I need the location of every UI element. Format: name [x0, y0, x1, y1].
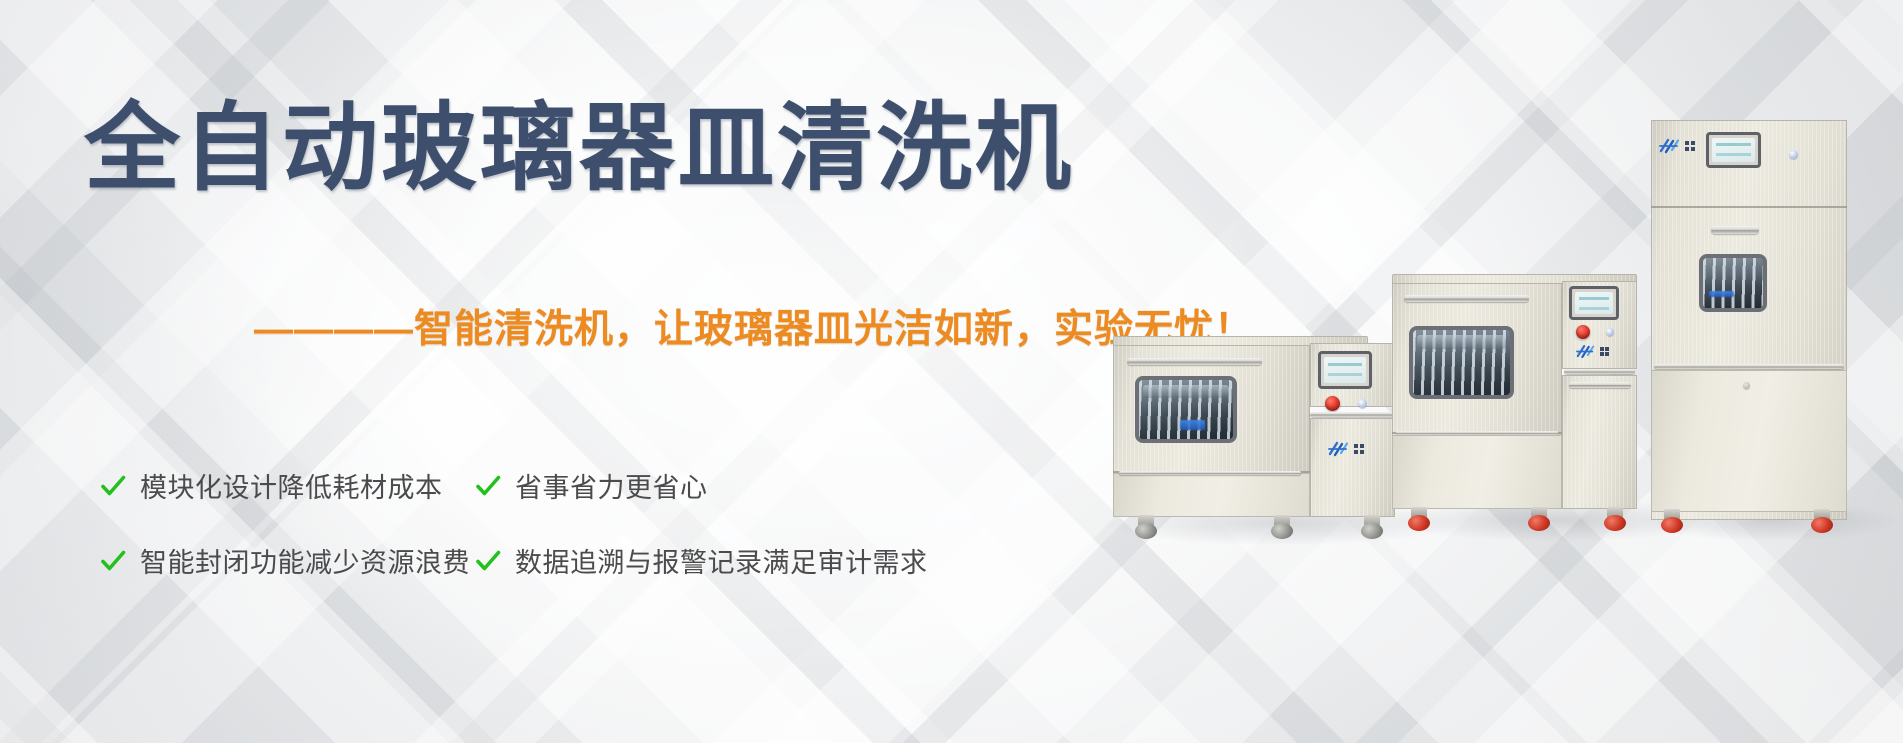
touchscreen-panel[interactable]	[1569, 286, 1619, 320]
chamber-viewing-window	[1409, 326, 1514, 399]
control-column-lower	[1562, 375, 1637, 509]
brand-square-grid-icon	[1600, 347, 1609, 356]
lower-door-handle[interactable]	[1654, 364, 1844, 369]
lower-service-panel[interactable]	[1651, 370, 1847, 512]
brand-logo-icon	[1328, 441, 1364, 457]
caster-wheel-icon	[1661, 509, 1683, 533]
product-image-tall-cabinet-glassware-washer	[1651, 120, 1881, 520]
product-hero-banner: 全自动玻璃器皿清洗机 ————智能清洗机，让玻璃器皿光洁如新，实验无忧！ 模块化…	[0, 0, 1903, 743]
caster-wheel-icon	[1408, 507, 1430, 531]
caster-wheel-icon	[1811, 509, 1833, 533]
upper-rack	[1417, 335, 1506, 349]
glassware-load	[1703, 258, 1763, 308]
blue-rack-accent	[1709, 291, 1734, 297]
brand-square-grid-icon	[1685, 141, 1695, 151]
product-image-freestanding-glassware-washer	[1392, 272, 1692, 522]
caster-wheel-icon	[1135, 515, 1157, 539]
blue-rack-accent	[1180, 420, 1204, 429]
chamber-door-handle[interactable]	[1404, 295, 1529, 302]
control-column-trim	[1310, 412, 1395, 417]
lcd-display	[1575, 292, 1613, 314]
chamber-door-handle[interactable]	[1711, 226, 1759, 234]
emergency-stop-icon[interactable]	[1325, 396, 1340, 411]
control-column-trim	[1564, 369, 1635, 374]
chamber-door-handle[interactable]	[1127, 358, 1262, 365]
lower-service-panel[interactable]	[1113, 473, 1310, 517]
lower-panel-handle[interactable]	[1119, 471, 1301, 475]
brand-h-glyph	[1576, 344, 1596, 359]
door-lock-icon[interactable]	[1743, 382, 1750, 389]
touchscreen-panel[interactable]	[1706, 132, 1761, 168]
caster-wheel-icon	[1528, 507, 1550, 531]
lcd-display	[1712, 138, 1755, 162]
brand-logo-icon	[1576, 344, 1609, 359]
caster-wheel-icon	[1361, 515, 1383, 539]
product-image-group	[0, 0, 1903, 743]
chamber-viewing-window	[1699, 254, 1767, 312]
lcd-display	[1324, 357, 1366, 383]
brand-h-glyph	[1659, 138, 1681, 154]
panel-seam	[1651, 206, 1847, 208]
power-indicator-icon	[1789, 150, 1798, 159]
upper-rack	[1143, 385, 1230, 398]
brand-h-glyph	[1328, 441, 1350, 457]
touchscreen-panel[interactable]	[1318, 351, 1372, 389]
emergency-stop-icon[interactable]	[1576, 325, 1590, 339]
control-column-lower	[1310, 418, 1395, 517]
power-indicator-icon	[1358, 399, 1367, 408]
power-indicator-icon	[1606, 328, 1614, 336]
caster-wheel-icon	[1271, 515, 1293, 539]
caster-wheel-icon	[1604, 507, 1626, 531]
control-door-handle[interactable]	[1569, 382, 1631, 388]
chamber-viewing-window	[1135, 376, 1237, 443]
lower-service-panel[interactable]	[1392, 435, 1562, 509]
brand-square-grid-icon	[1354, 444, 1364, 454]
brand-logo-icon	[1659, 138, 1695, 154]
